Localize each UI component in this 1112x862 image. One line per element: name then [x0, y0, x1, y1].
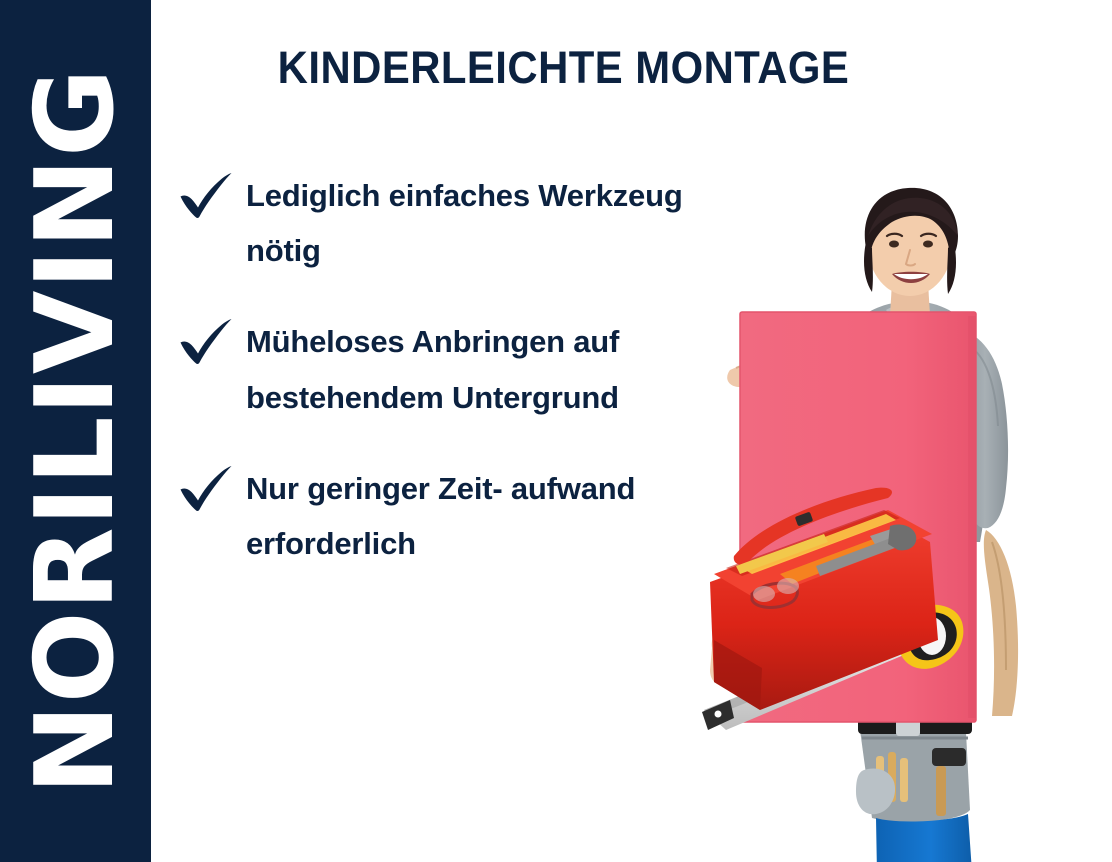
list-item-label: Nur geringer Zeit- aufwand erforderlich — [246, 461, 698, 571]
brand-name: NORILIVING — [22, 67, 130, 794]
list-item-label: Lediglich einfaches Werkzeug nötig — [246, 168, 698, 278]
list-item: Nur geringer Zeit- aufwand erforderlich — [178, 461, 698, 571]
feature-list: Lediglich einfaches Werkzeug nötig Mühel… — [178, 168, 698, 571]
check-icon — [178, 465, 234, 513]
page-title: KINDERLEICHTE MONTAGE — [180, 42, 947, 94]
product-photo — [700, 170, 1112, 862]
list-item: Müheloses Anbringen auf bestehendem Unte… — [178, 314, 698, 424]
brand-sidebar: NORILIVING — [0, 0, 151, 862]
list-item: Lediglich einfaches Werkzeug nötig — [178, 168, 698, 278]
list-item-label: Müheloses Anbringen auf bestehendem Unte… — [246, 314, 698, 424]
check-icon — [178, 318, 234, 366]
check-icon — [178, 172, 234, 220]
promo-banner: NORILIVING KINDERLEICHTE MONTAGE Ledigli… — [0, 0, 1112, 862]
